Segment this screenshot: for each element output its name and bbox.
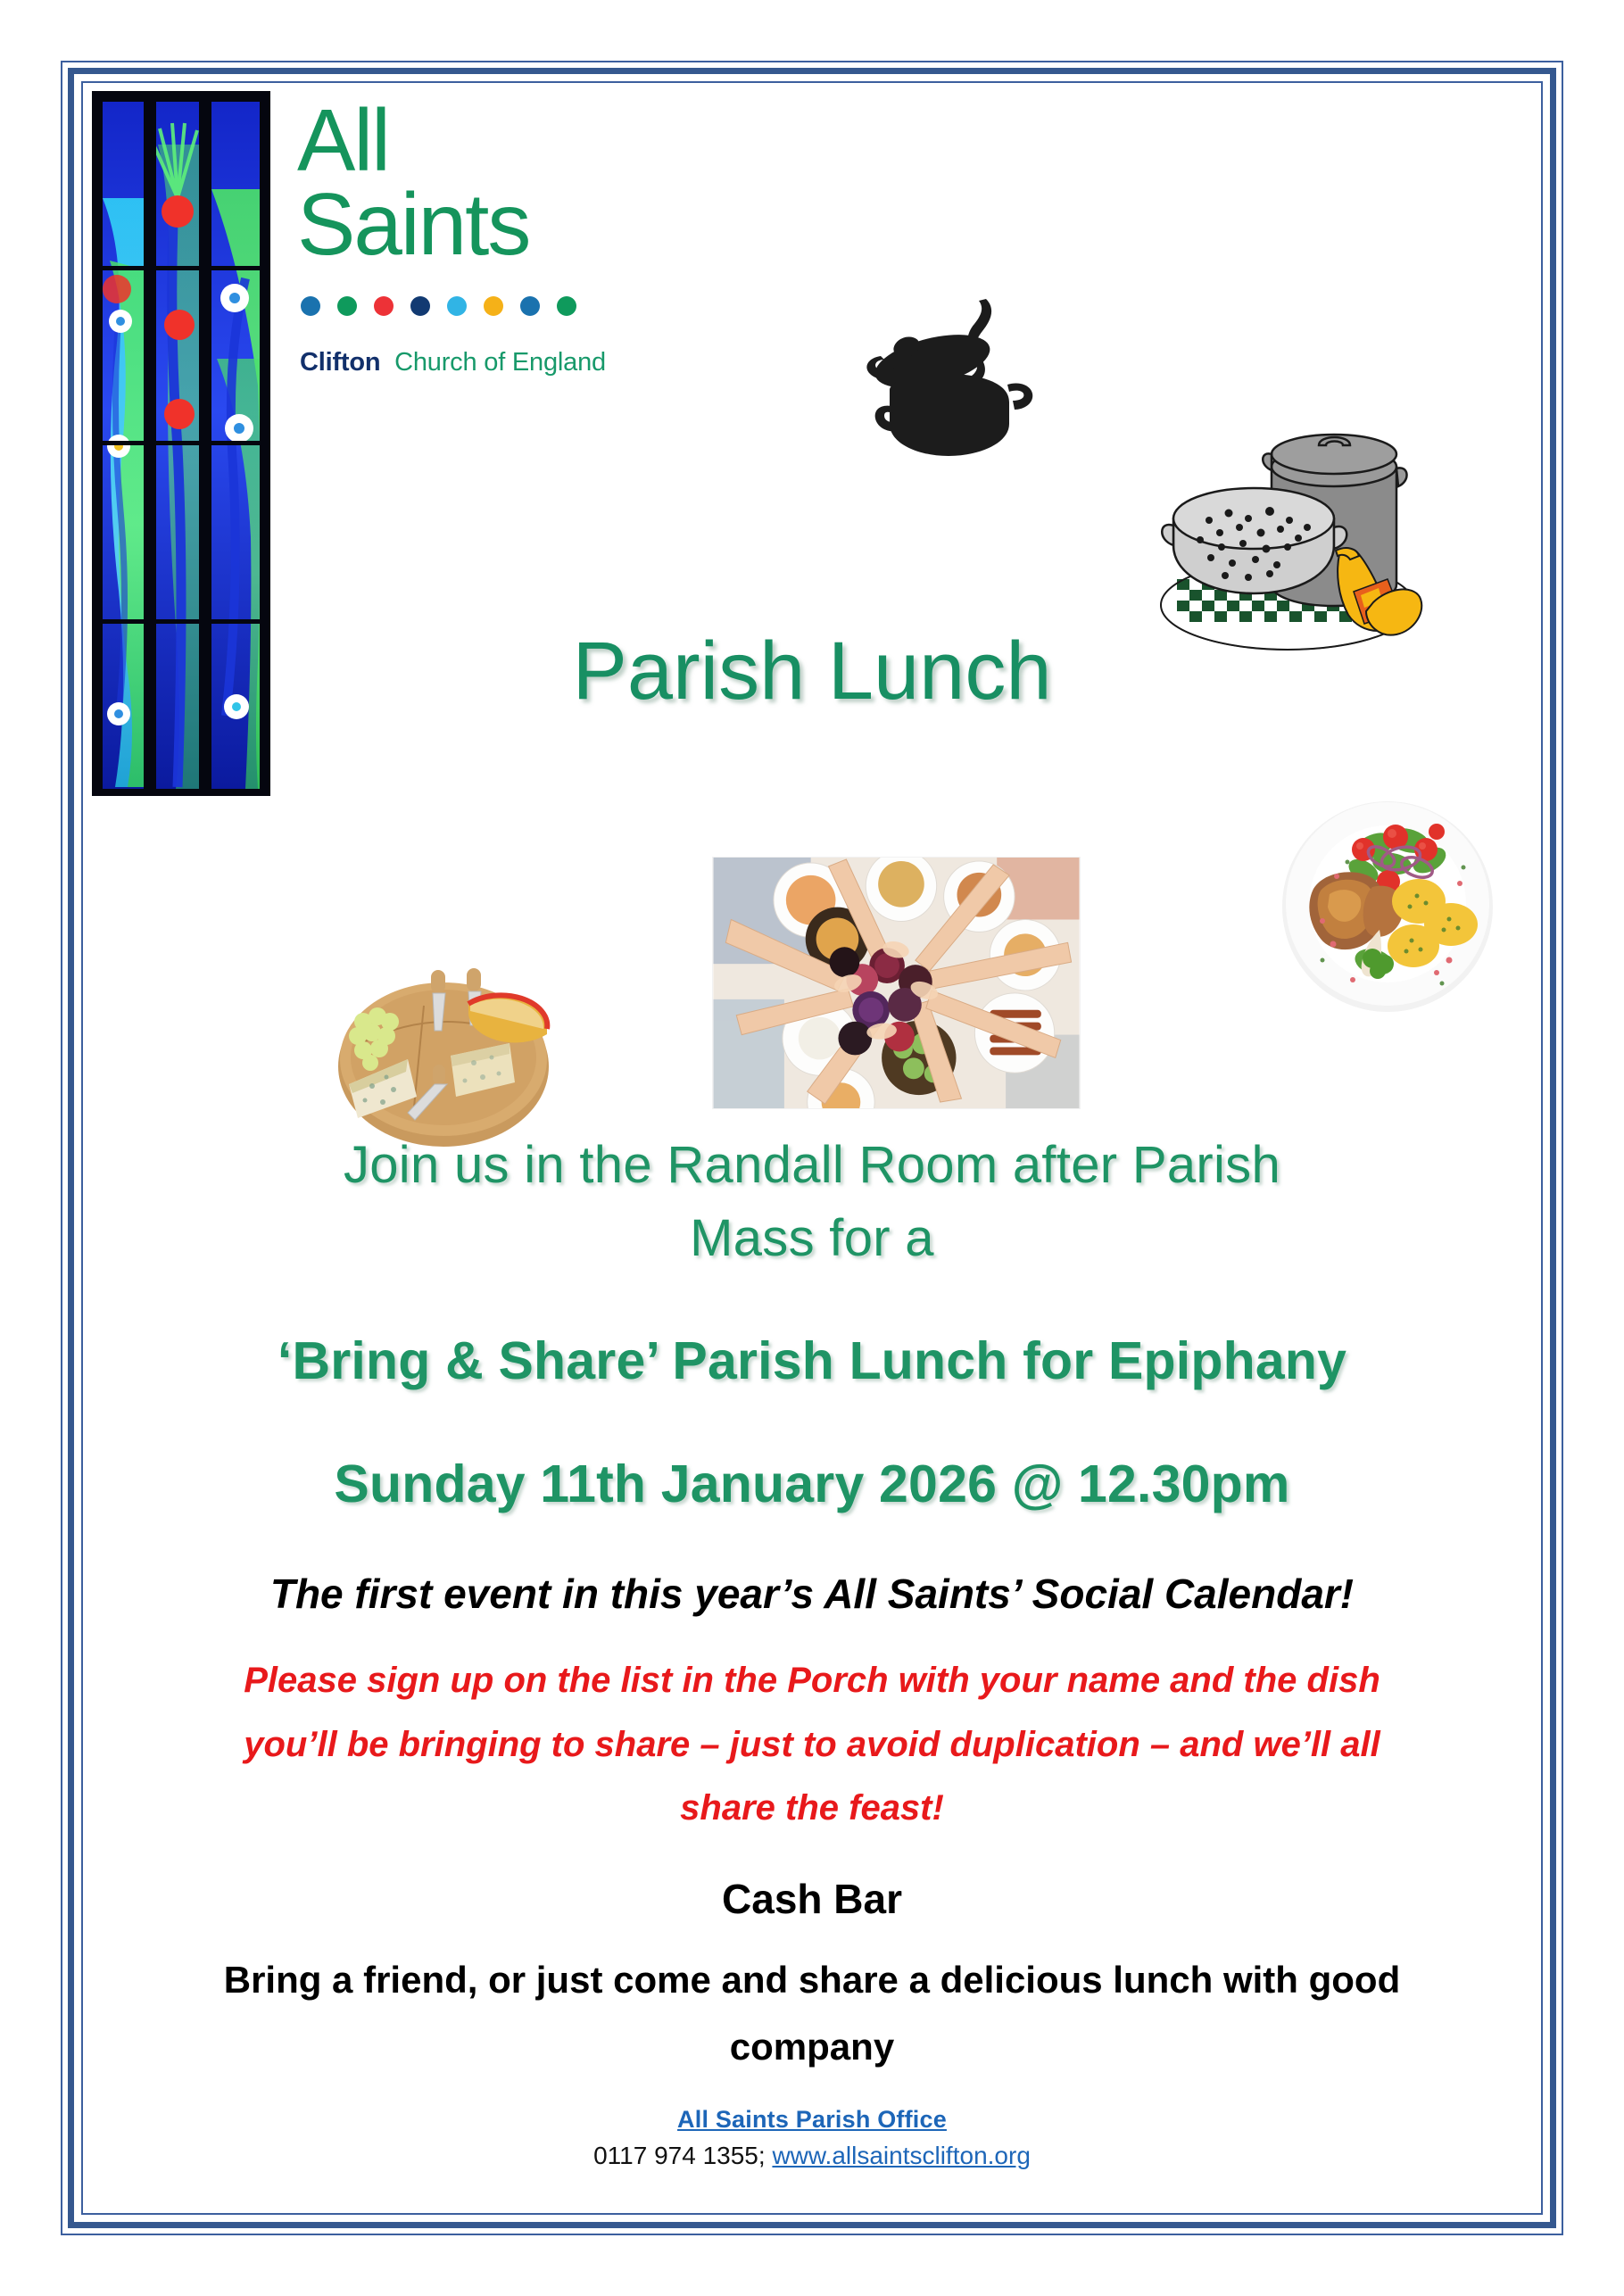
poster-content: All Saints Clifton Church of England (85, 85, 1539, 2211)
logo-dot-blue-1 (301, 296, 320, 316)
logo-dot-lightblue (447, 296, 467, 316)
parish-office-label: All Saints Parish Office (174, 2106, 1450, 2134)
event-headline: ‘Bring & Share’ Parish Lunch for Epiphan… (174, 1322, 1450, 1399)
all-saints-logo: All Saints Clifton Church of England (297, 98, 672, 377)
website-link[interactable]: www.allsaintsclifton.org (772, 2142, 1030, 2169)
signup-line-2: you’ll be bringing to share – just to av… (174, 1713, 1450, 1777)
signup-line-3: share the feast! (174, 1777, 1450, 1840)
phone-number: 0117 974 1355; (593, 2142, 766, 2169)
steaming-pot-icon (854, 292, 1046, 466)
event-date-time: Sunday 11th January 2026 @ 12.30pm (174, 1446, 1450, 1522)
logo-subtitle-clifton: Clifton (300, 348, 380, 377)
logo-subtitle: Clifton Church of England (300, 348, 672, 377)
logo-dot-blue-2 (520, 296, 540, 316)
poster-footer: All Saints Parish Office 0117 974 1355; … (174, 2106, 1450, 2170)
invite-line-1: Join us in the Randall Room after Parish (174, 1129, 1450, 1202)
logo-word-all: All (297, 98, 672, 182)
logo-dot-green-2 (557, 296, 576, 316)
closing-line-2: company (174, 2014, 1450, 2081)
first-event-note: The first event in this year’s All Saint… (174, 1565, 1450, 1622)
contact-line: 0117 974 1355; www.allsaintsclifton.org (174, 2142, 1450, 2170)
logo-dot-red (374, 296, 394, 316)
closing-line-1: Bring a friend, or just come and share a… (174, 1947, 1450, 2014)
invite-line-2: Mass for a (174, 1202, 1450, 1275)
logo-subtitle-church-of-england: Church of England (394, 348, 606, 377)
poster-page: All Saints Clifton Church of England (0, 0, 1624, 2296)
logo-dot-navy (410, 296, 430, 316)
logo-dot-green-1 (337, 296, 357, 316)
plated-meal-image (1267, 785, 1508, 1026)
friends-sharing-food-image (712, 857, 1081, 1109)
cash-bar-note: Cash Bar (174, 1870, 1450, 1927)
page-title: Parish Lunch (85, 625, 1539, 718)
poster-body-text: Join us in the Randall Room after Parish… (174, 1129, 1450, 2081)
logo-dot-yellow (484, 296, 503, 316)
logo-word-saints: Saints (297, 182, 672, 266)
logo-dot-row (301, 296, 672, 316)
cheese-board-image (308, 950, 576, 1156)
signup-line-1: Please sign up on the list in the Porch … (174, 1649, 1450, 1712)
